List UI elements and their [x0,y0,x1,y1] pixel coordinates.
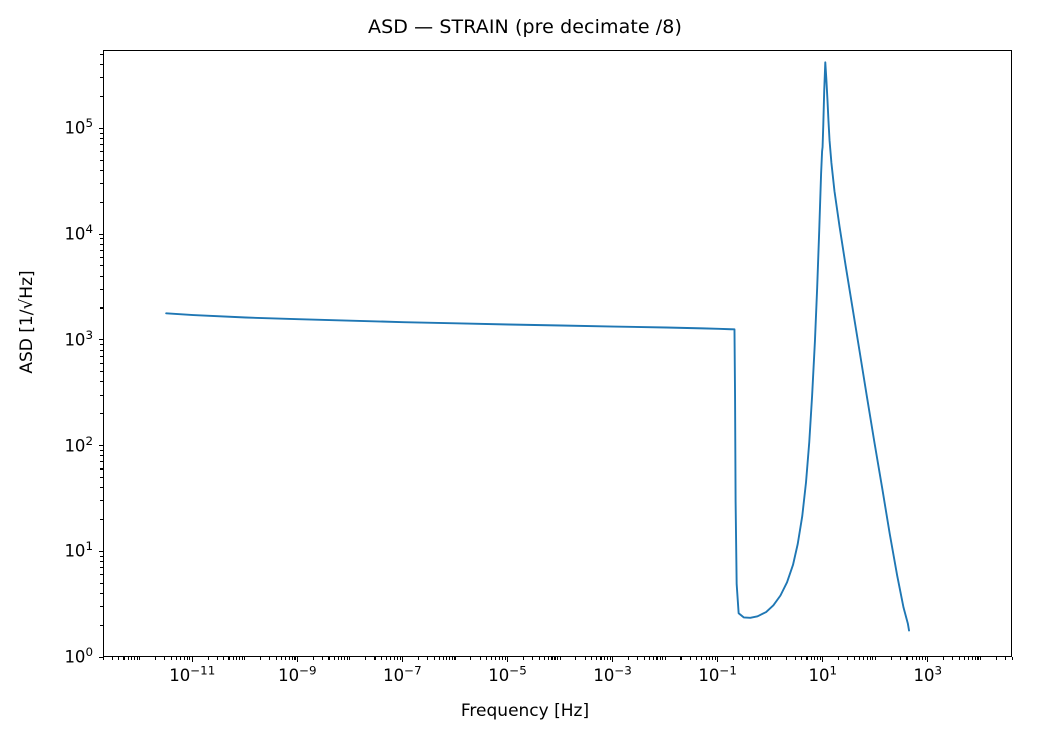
x-minor-tick-mark [400,657,401,660]
x-minor-tick-mark [591,657,592,660]
y-minor-tick-mark [100,133,103,134]
x-tick-label: 101 [808,666,837,685]
x-tick-mark [612,657,613,662]
x-minor-tick-mark [696,657,697,660]
y-minor-tick-mark [100,54,103,55]
x-minor-tick-mark [134,657,135,660]
x-minor-tick-mark [964,657,965,660]
data-line-svg [104,51,1013,658]
y-minor-tick-mark [100,350,103,351]
x-minor-tick-mark [838,657,839,660]
x-tick-mark [402,657,403,662]
x-minor-tick-mark [847,657,848,660]
y-minor-tick-mark [100,413,103,414]
x-tick-mark [507,657,508,662]
x-minor-tick-mark [233,657,234,660]
y-minor-tick-mark [100,395,103,396]
x-minor-tick-mark [341,657,342,660]
x-minor-tick-mark [187,657,188,660]
x-minor-tick-mark [596,657,597,660]
x-minor-tick-mark [820,657,821,660]
y-minor-tick-mark [100,170,103,171]
x-minor-tick-mark [925,657,926,660]
x-minor-tick-mark [709,657,710,660]
x-minor-tick-mark [131,657,132,660]
x-minor-tick-mark [665,657,666,660]
x-minor-tick-mark [733,657,734,660]
x-minor-tick-mark [875,657,876,660]
y-minor-tick-mark [100,77,103,78]
x-minor-tick-mark [943,657,944,660]
x-tick-label: 10−3 [593,666,632,685]
y-minor-tick-mark [100,356,103,357]
y-minor-tick-mark [100,455,103,456]
x-tick-label: 10−1 [698,666,737,685]
x-minor-tick-mark [236,657,237,660]
x-minor-tick-mark [239,657,240,660]
y-minor-tick-mark [100,468,103,469]
x-minor-tick-mark [712,657,713,660]
x-minor-tick-mark [975,657,976,660]
x-minor-tick-mark [644,657,645,660]
x-minor-tick-mark [397,657,398,660]
y-minor-tick-mark [100,574,103,575]
x-minor-tick-mark [502,657,503,660]
x-minor-tick-mark [758,657,759,660]
y-tick-mark [99,445,104,446]
x-minor-tick-mark [786,657,787,660]
y-minor-tick-mark [100,344,103,345]
x-minor-tick-mark [276,657,277,660]
x-minor-tick-mark [817,657,818,660]
x-minor-tick-mark [680,657,681,660]
x-minor-tick-mark [891,657,892,660]
y-minor-tick-mark [100,244,103,245]
x-tick-label: 103 [914,666,943,685]
y-minor-tick-mark [100,96,103,97]
x-minor-tick-mark [814,657,815,660]
x-minor-tick-mark [390,657,391,660]
x-minor-tick-mark [996,657,997,660]
page-title: ASD — STRAIN (pre decimate /8) [0,16,1050,38]
x-minor-tick-mark [208,657,209,660]
x-minor-tick-mark [365,657,366,660]
x-tick-label: 10−11 [169,666,215,685]
x-minor-tick-mark [171,657,172,660]
y-minor-tick-mark [100,606,103,607]
x-tick-mark [822,657,823,662]
x-minor-tick-mark [560,657,561,660]
x-minor-tick-mark [338,657,339,660]
x-minor-tick-mark [427,657,428,660]
y-minor-tick-mark [100,371,103,372]
x-minor-tick-mark [505,657,506,660]
figure-canvas: ASD — STRAIN (pre decimate /8) 10−1110−9… [0,0,1050,750]
x-minor-tick-mark [607,657,608,660]
x-minor-tick-mark [554,657,555,660]
x-minor-tick-mark [347,657,348,660]
y-minor-tick-mark [100,144,103,145]
y-minor-tick-mark [100,556,103,557]
x-tick-mark [192,657,193,662]
x-minor-tick-mark [912,657,913,660]
x-minor-tick-mark [604,657,605,660]
x-minor-tick-mark [854,657,855,660]
x-minor-tick-mark [749,657,750,660]
y-minor-tick-mark [100,160,103,161]
x-minor-tick-mark [480,657,481,660]
x-minor-tick-mark [660,657,661,660]
x-minor-tick-mark [870,657,871,660]
x-minor-tick-mark [754,657,755,660]
x-minor-tick-mark [439,657,440,660]
x-minor-tick-mark [972,657,973,660]
x-minor-tick-mark [532,657,533,660]
x-minor-tick-mark [662,657,663,660]
y-minor-tick-mark [100,381,103,382]
x-minor-tick-mark [418,657,419,660]
x-minor-tick-mark [551,657,552,660]
y-minor-tick-mark [100,250,103,251]
x-minor-tick-mark [292,657,293,660]
x-minor-tick-mark [980,657,981,660]
x-minor-tick-mark [164,657,165,660]
x-minor-tick-mark [968,657,969,660]
x-minor-tick-mark [386,657,387,660]
x-tick-mark [297,657,298,662]
x-minor-tick-mark [600,657,601,660]
y-minor-tick-mark [100,276,103,277]
x-minor-tick-mark [770,657,771,660]
x-minor-tick-mark [128,657,129,660]
x-minor-tick-mark [434,657,435,660]
x-minor-tick-mark [180,657,181,660]
y-tick-mark [99,339,104,340]
x-minor-tick-mark [959,657,960,660]
x-minor-tick-mark [281,657,282,660]
y-minor-tick-mark [100,477,103,478]
x-minor-tick-mark [767,657,768,660]
x-minor-tick-mark [863,657,864,660]
y-minor-tick-mark [100,487,103,488]
x-minor-tick-mark [539,657,540,660]
y-tick-mark [99,551,104,552]
x-minor-tick-mark [486,657,487,660]
plot-area [103,50,1012,657]
y-tick-mark [99,657,104,658]
x-minor-tick-mark [443,657,444,660]
x-minor-tick-mark [872,657,873,660]
x-tick-label: 10−7 [383,666,422,685]
x-minor-tick-mark [285,657,286,660]
y-minor-tick-mark [100,257,103,258]
y-minor-tick-mark [100,151,103,152]
y-tick-mark [99,128,104,129]
x-tick-label: 10−5 [488,666,527,685]
y-minor-tick-mark [100,202,103,203]
x-minor-tick-mark [859,657,860,660]
x-minor-tick-mark [217,657,218,660]
y-minor-tick-mark [100,593,103,594]
x-minor-tick-mark [706,657,707,660]
x-minor-tick-mark [628,657,629,660]
y-minor-tick-mark [100,307,103,308]
y-minor-tick-mark [100,567,103,568]
x-minor-tick-mark [653,657,654,660]
x-minor-tick-mark [806,657,807,660]
x-minor-tick-mark [269,657,270,660]
y-minor-tick-mark [100,519,103,520]
x-minor-tick-mark [585,657,586,660]
x-minor-tick-mark [811,657,812,660]
x-minor-tick-mark [922,657,923,660]
x-minor-tick-mark [334,657,335,660]
x-minor-tick-mark [715,657,716,660]
x-minor-tick-mark [454,657,455,660]
x-minor-tick-mark [452,657,453,660]
y-minor-tick-mark [100,561,103,562]
x-minor-tick-mark [523,657,524,660]
x-minor-tick-mark [656,657,657,660]
x-axis-label: Frequency [Hz] [0,701,1050,721]
series-strain-asd [166,62,909,630]
x-minor-tick-mark [374,657,375,660]
x-minor-tick-mark [906,657,907,660]
x-minor-tick-mark [344,657,345,660]
x-minor-tick-mark [544,657,545,660]
x-tick-mark [927,657,928,662]
y-minor-tick-mark [100,183,103,184]
y-minor-tick-mark [100,500,103,501]
x-minor-tick-mark [189,657,190,660]
x-minor-tick-mark [649,657,650,660]
x-minor-tick-mark [495,657,496,660]
x-minor-tick-mark [176,657,177,660]
y-minor-tick-mark [100,625,103,626]
x-minor-tick-mark [244,657,245,660]
x-minor-tick-mark [801,657,802,660]
x-minor-tick-mark [228,657,229,660]
x-minor-tick-mark [916,657,917,660]
x-minor-tick-mark [289,657,290,660]
x-minor-tick-mark [260,657,261,660]
x-minor-tick-mark [1012,657,1013,660]
x-minor-tick-mark [118,657,119,660]
x-minor-tick-mark [952,657,953,660]
x-minor-tick-mark [499,657,500,660]
x-minor-tick-mark [795,657,796,660]
y-minor-tick-mark [100,450,103,451]
y-tick-label: 100 [8,648,93,667]
y-minor-tick-mark [100,238,103,239]
y-axis-label: ASD [1/√Hz] [17,42,37,602]
x-minor-tick-mark [867,657,868,660]
x-minor-tick-mark [557,657,558,660]
y-minor-tick-mark [100,64,103,65]
x-minor-tick-mark [123,657,124,660]
x-minor-tick-mark [548,657,549,660]
x-tick-mark [717,657,718,662]
x-minor-tick-mark [322,657,323,660]
x-minor-tick-mark [470,657,471,660]
x-minor-tick-mark [977,657,978,660]
x-minor-tick-mark [381,657,382,660]
x-minor-tick-mark [137,657,138,660]
x-minor-tick-mark [349,657,350,660]
x-minor-tick-mark [328,657,329,660]
y-tick-mark [99,234,104,235]
y-minor-tick-mark [100,289,103,290]
y-minor-tick-mark [100,363,103,364]
y-minor-tick-mark [100,138,103,139]
x-minor-tick-mark [139,657,140,660]
x-minor-tick-mark [575,657,576,660]
x-minor-tick-mark [242,657,243,660]
x-minor-tick-mark [491,657,492,660]
x-minor-tick-mark [690,657,691,660]
x-minor-tick-mark [446,657,447,660]
x-tick-label: 10−9 [278,666,317,685]
x-minor-tick-mark [294,657,295,660]
x-minor-tick-mark [313,657,314,660]
x-minor-tick-mark [742,657,743,660]
y-minor-tick-mark [100,583,103,584]
x-minor-tick-mark [394,657,395,660]
y-minor-tick-mark [100,265,103,266]
x-minor-tick-mark [1005,657,1006,660]
x-minor-tick-mark [701,657,702,660]
y-minor-tick-mark [100,461,103,462]
x-minor-tick-mark [637,657,638,660]
x-minor-tick-mark [919,657,920,660]
x-minor-tick-mark [112,657,113,660]
x-minor-tick-mark [223,657,224,660]
x-minor-tick-mark [762,657,763,660]
x-minor-tick-mark [184,657,185,660]
x-minor-tick-mark [765,657,766,660]
x-minor-tick-mark [610,657,611,660]
x-minor-tick-mark [155,657,156,660]
x-minor-tick-mark [900,657,901,660]
x-minor-tick-mark [449,657,450,660]
